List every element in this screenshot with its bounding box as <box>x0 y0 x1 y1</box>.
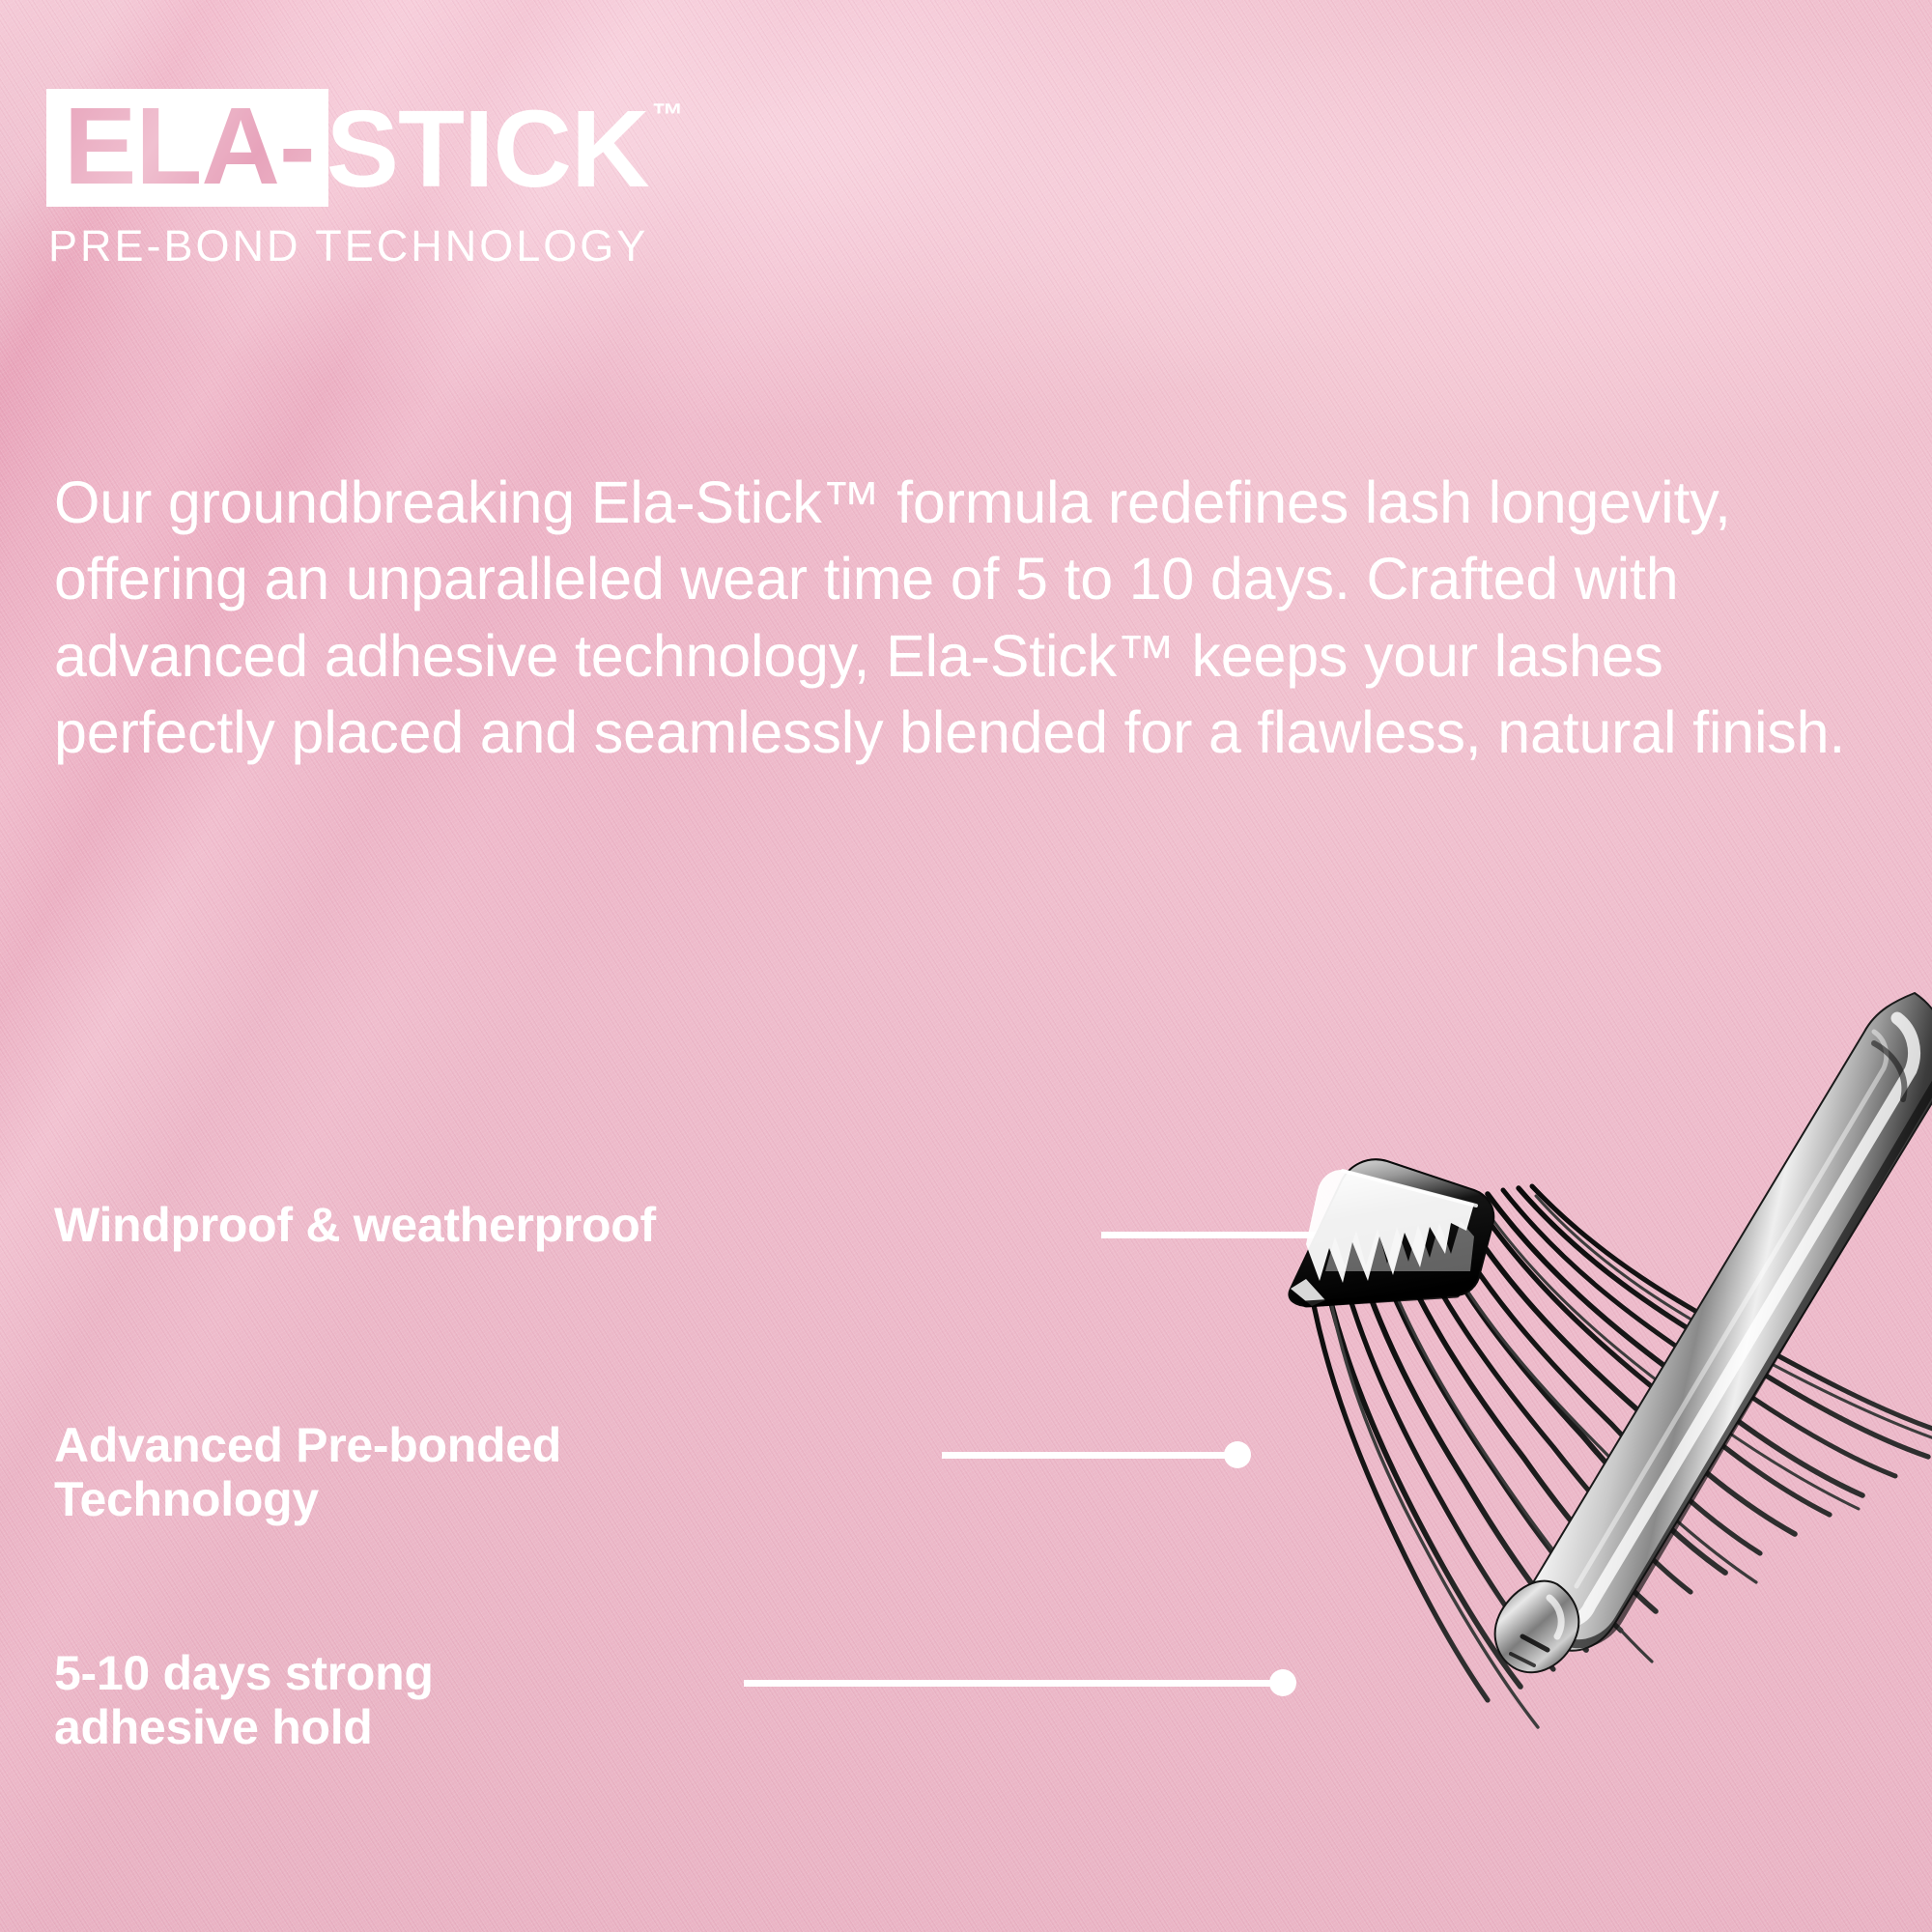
feature-row-prebonded: Advanced Pre-bonded Technology <box>0 1418 561 1526</box>
feature-connector-2 <box>942 1441 1251 1468</box>
connector-dot-1 <box>1316 1221 1343 1248</box>
feature-label-adhesive-hold: 5-10 days strong adhesive hold <box>0 1646 434 1754</box>
connector-dot-3 <box>1269 1669 1296 1696</box>
logo-white-plate: ELA- <box>46 89 328 207</box>
feature-row-adhesive-hold: 5-10 days strong adhesive hold <box>0 1646 434 1754</box>
logo-stick-text: STICK <box>327 95 649 204</box>
promo-poster: ELA- STICK ™ PRE-BOND TECHNOLOGY Our gro… <box>0 0 1932 1932</box>
background-vignette <box>0 0 1932 1932</box>
connector-dot-2 <box>1224 1441 1251 1468</box>
description-paragraph: Our groundbreaking Ela-Stick™ formula re… <box>54 465 1851 771</box>
feature-label-windproof: Windproof & weatherproof <box>0 1198 656 1252</box>
feature-connector-1 <box>1101 1221 1343 1248</box>
brand-logo: ELA- STICK ™ PRE-BOND TECHNOLOGY <box>46 89 684 268</box>
logo-ela-knockout: ELA- <box>64 92 315 205</box>
feature-row-windproof: Windproof & weatherproof <box>0 1198 656 1252</box>
connector-line-3 <box>744 1680 1271 1687</box>
connector-line-2 <box>942 1452 1226 1459</box>
feature-connector-3 <box>744 1669 1296 1696</box>
brand-tagline: PRE-BOND TECHNOLOGY <box>48 224 684 268</box>
trademark-symbol: ™ <box>652 99 684 130</box>
feature-label-prebonded: Advanced Pre-bonded Technology <box>0 1418 561 1526</box>
logo-wordmark: ELA- STICK ™ <box>46 89 684 207</box>
connector-line-1 <box>1101 1232 1318 1238</box>
